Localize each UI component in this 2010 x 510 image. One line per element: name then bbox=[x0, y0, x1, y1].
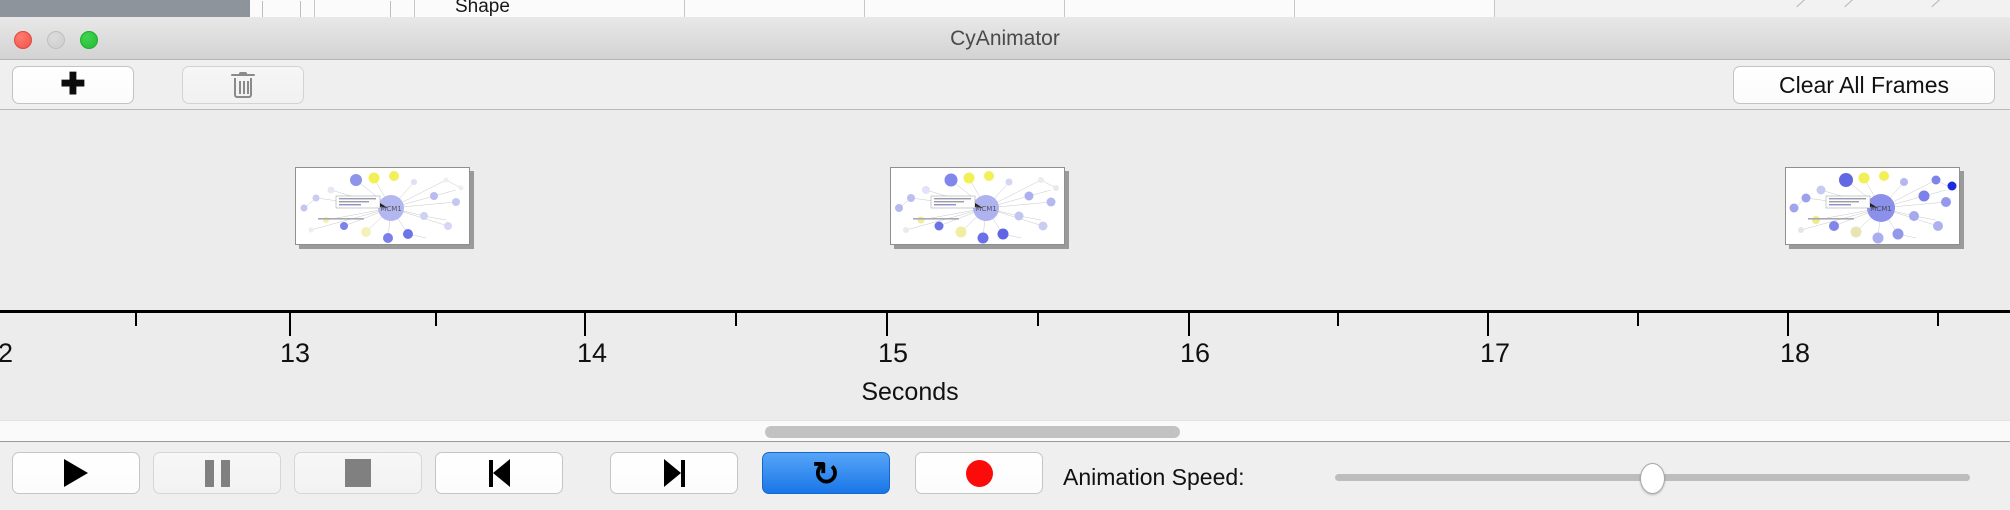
axis-tick-minor bbox=[735, 313, 737, 326]
record-button[interactable] bbox=[915, 452, 1043, 494]
slider-thumb[interactable] bbox=[1640, 463, 1665, 494]
axis-tick-minor bbox=[1937, 313, 1939, 326]
window-title: CyAnimator bbox=[0, 27, 2010, 51]
record-icon bbox=[966, 460, 993, 487]
background-slash bbox=[1844, 0, 1854, 7]
loop-icon: ↻ bbox=[812, 457, 840, 490]
axis-tick-major bbox=[584, 313, 586, 336]
background-cell bbox=[1295, 0, 1495, 17]
axis-tick-major bbox=[1188, 313, 1190, 336]
last-frame-button[interactable] bbox=[610, 452, 738, 494]
svg-text:MCM1: MCM1 bbox=[380, 205, 401, 213]
network-graph-preview: MCM1 bbox=[1786, 168, 1960, 245]
network-graph-preview: MCM1 bbox=[296, 168, 470, 245]
delete-frame-button[interactable] bbox=[182, 66, 304, 104]
clear-all-frames-button[interactable]: Clear All Frames bbox=[1733, 66, 1995, 104]
axis-tick-label: 14 bbox=[577, 338, 607, 369]
axis-tick-label: 12 bbox=[0, 338, 13, 369]
scrollbar-thumb[interactable] bbox=[765, 426, 1180, 438]
plus-icon: ✚ bbox=[60, 70, 85, 100]
svg-text:MCM1: MCM1 bbox=[975, 205, 996, 213]
skip-back-icon bbox=[489, 459, 510, 487]
skip-forward-icon bbox=[664, 459, 685, 487]
axis-tick-label: 13 bbox=[280, 338, 310, 369]
timeline-axis bbox=[0, 310, 2010, 313]
first-frame-button[interactable] bbox=[435, 452, 563, 494]
axis-title-text: Seconds bbox=[861, 378, 958, 406]
animation-speed-slider[interactable] bbox=[1335, 465, 1970, 489]
play-button[interactable] bbox=[12, 452, 140, 494]
background-slash bbox=[1931, 0, 1941, 7]
frame-thumbnail-1[interactable]: MCM1 bbox=[295, 167, 470, 245]
network-graph-preview: MCM1 bbox=[891, 168, 1065, 245]
background-shape-label: Shape bbox=[455, 0, 510, 17]
axis-tick-label: 17 bbox=[1480, 338, 1510, 369]
axis-tick-minor bbox=[1337, 313, 1339, 326]
background-tick bbox=[300, 1, 301, 17]
background-dark-tab bbox=[0, 0, 250, 17]
clear-all-frames-label: Clear All Frames bbox=[1779, 72, 1949, 99]
pause-button[interactable] bbox=[153, 452, 281, 494]
axis-tick-major bbox=[1487, 313, 1489, 336]
background-cell bbox=[1065, 0, 1295, 17]
background-tick bbox=[390, 1, 391, 17]
axis-tick-label: 15 bbox=[878, 338, 908, 369]
trash-icon bbox=[231, 72, 255, 99]
axis-tick-minor bbox=[1637, 313, 1639, 326]
stop-icon bbox=[345, 459, 371, 487]
svg-text:MCM1: MCM1 bbox=[1870, 205, 1891, 213]
toolbar: ✚ Clear All Frames bbox=[0, 60, 2010, 110]
pause-icon bbox=[205, 460, 230, 487]
background-cell bbox=[865, 0, 1065, 17]
window-titlebar: CyAnimator bbox=[0, 17, 2010, 60]
stop-button[interactable] bbox=[294, 452, 422, 494]
background-slash bbox=[1796, 0, 1806, 7]
animation-speed-label: Animation Speed: bbox=[1063, 464, 1245, 491]
background-cell bbox=[685, 0, 865, 17]
background-window-strip: Shape bbox=[0, 0, 2010, 17]
axis-tick-minor bbox=[1037, 313, 1039, 326]
frame-thumbnail-2[interactable]: MCM1 bbox=[890, 167, 1065, 245]
axis-tick-label: 16 bbox=[1180, 338, 1210, 369]
frame-thumbnail-3[interactable]: MCM1 bbox=[1785, 167, 1960, 245]
axis-tick-major bbox=[289, 313, 291, 336]
timeline-scrollbar[interactable] bbox=[0, 420, 2010, 442]
play-icon bbox=[64, 459, 88, 487]
axis-title: Seconds bbox=[0, 378, 2010, 407]
axis-tick-minor bbox=[135, 313, 137, 326]
timeline-panel[interactable]: MCM1 bbox=[0, 110, 2010, 420]
loop-button[interactable]: ↻ bbox=[762, 452, 890, 494]
playback-controls: ↻ Animation Speed: bbox=[0, 443, 2010, 510]
background-tick bbox=[262, 1, 263, 17]
add-frame-button[interactable]: ✚ bbox=[12, 66, 134, 104]
axis-tick-label: 18 bbox=[1780, 338, 1810, 369]
axis-tick-major bbox=[1787, 313, 1789, 336]
axis-tick-major bbox=[886, 313, 888, 336]
background-cell bbox=[250, 0, 315, 17]
background-cell bbox=[315, 0, 415, 17]
axis-tick-minor bbox=[435, 313, 437, 326]
